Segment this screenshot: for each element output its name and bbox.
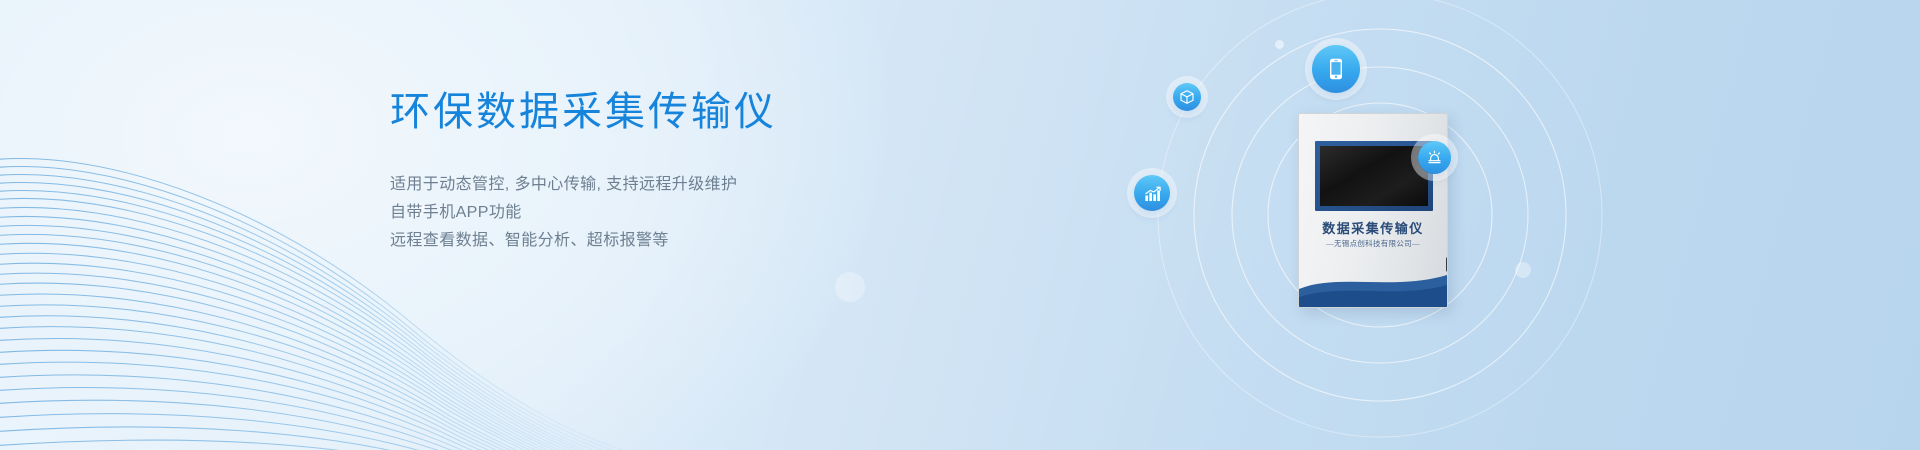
bar-chart-icon [1143, 184, 1162, 203]
device-company-label: —无锡点创科技有限公司— [1299, 238, 1447, 249]
device-model-label: 数据采集传输仪 [1299, 218, 1447, 237]
bar-chart-icon-badge[interactable] [1134, 175, 1170, 211]
subtitle-line-1: 适用于动态管控, 多中心传输, 支持远程升级维护 [390, 171, 1030, 199]
mobile-phone-icon [1324, 57, 1348, 81]
device-side-connector-bottom [1446, 257, 1448, 272]
product-illustration: 数据采集传输仪 —无锡点创科技有限公司— [1090, 0, 1650, 450]
mobile-phone-icon-badge[interactable] [1312, 45, 1360, 93]
subtitle-line-3: 远程查看数据、智能分析、超标报警等 [390, 227, 1030, 255]
device-front-wave-graphic [1299, 263, 1447, 307]
alarm-siren-icon-badge[interactable] [1418, 141, 1451, 174]
page-title: 环保数据采集传输仪 [390, 92, 1030, 132]
box-icon-badge[interactable] [1173, 83, 1201, 111]
bokeh-circle-large [835, 272, 865, 302]
banner-copy: 环保数据采集传输仪 适用于动态管控, 多中心传输, 支持远程升级维护 自带手机A… [390, 92, 1030, 255]
product-hero-banner: 环保数据采集传输仪 适用于动态管控, 多中心传输, 支持远程升级维护 自带手机A… [0, 0, 1920, 450]
box-icon [1179, 89, 1195, 105]
subtitle-line-2: 自带手机APP功能 [390, 199, 1030, 227]
device-screen [1320, 146, 1428, 206]
banner-subtitle-list: 适用于动态管控, 多中心传输, 支持远程升级维护 自带手机APP功能 远程查看数… [390, 171, 1030, 255]
alarm-siren-icon [1426, 149, 1443, 166]
device-screen-bezel [1315, 141, 1433, 211]
